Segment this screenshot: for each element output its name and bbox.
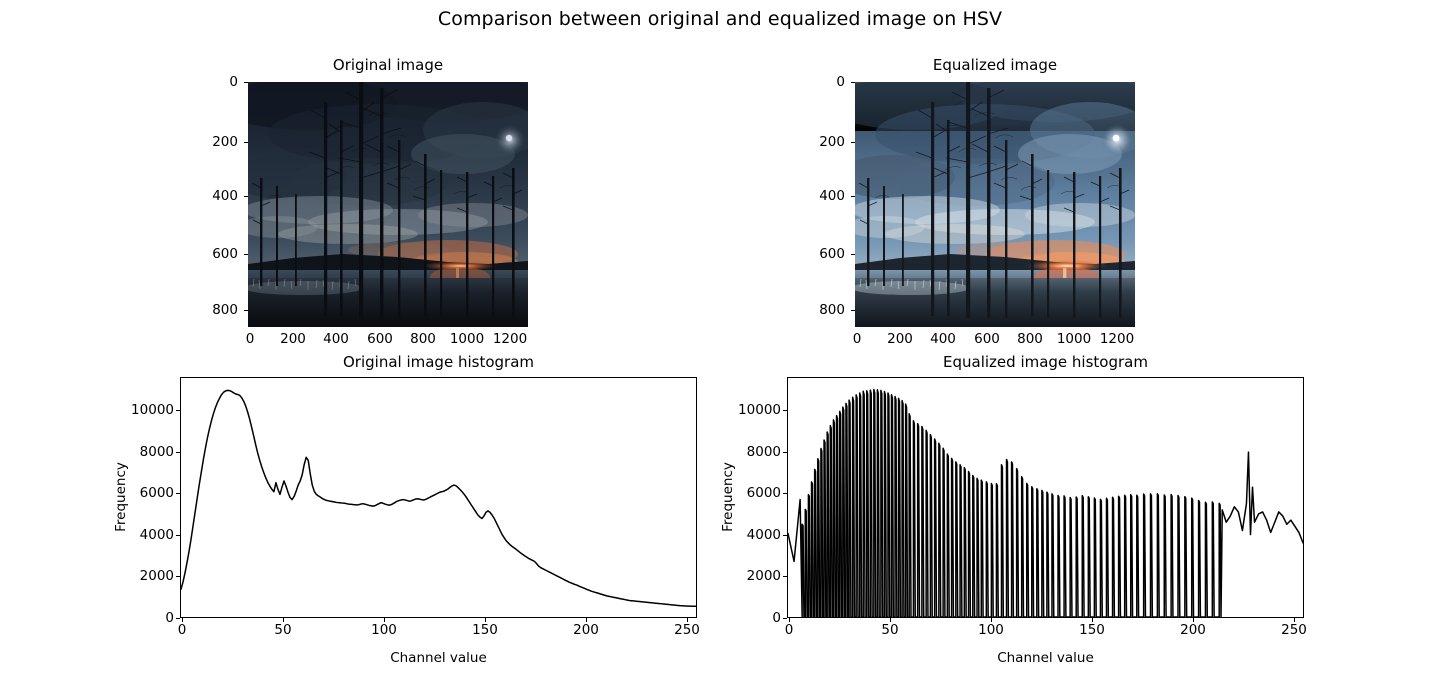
tick [783, 452, 787, 453]
tick [851, 82, 855, 83]
equalized-histogram-ytick-0: 0 [747, 610, 781, 626]
equalized-image-xtick-200: 200 [887, 331, 913, 347]
original-image-ytick-800: 800 [206, 302, 238, 318]
tick [789, 618, 790, 622]
original-image-title: Original image [248, 56, 528, 74]
original-histogram-title: Original image histogram [180, 353, 697, 371]
original-histogram-ytick-10000: 10000 [118, 402, 174, 418]
original-histogram-xtick-50: 50 [274, 622, 291, 638]
equalized-image-ytick-0: 0 [813, 74, 845, 90]
tick [485, 618, 486, 622]
equalized-histogram-ytick-2000: 2000 [733, 568, 781, 584]
tick [851, 196, 855, 197]
tick [384, 618, 385, 622]
equalized-image-ytick-800: 800 [813, 302, 845, 318]
original-histogram-xtick-250: 250 [674, 622, 700, 638]
equalized-image-ytick-600: 600 [813, 246, 845, 262]
original-histogram-xtick-150: 150 [472, 622, 498, 638]
original-image-xtick-1000: 1000 [450, 331, 484, 347]
original-histogram-xtick-100: 100 [371, 622, 397, 638]
equalized-histogram-title: Equalized image histogram [787, 353, 1304, 371]
original-image-xtick-200: 200 [280, 331, 306, 347]
tick [783, 493, 787, 494]
tick [783, 618, 787, 619]
original-image-xtick-800: 800 [410, 331, 436, 347]
equalized-image-axes [855, 82, 1135, 327]
tick [244, 82, 248, 83]
equalized-photo [855, 82, 1135, 327]
equalized-image-ytick-200: 200 [813, 134, 845, 150]
original-histogram-xtick-0: 0 [178, 622, 187, 638]
original-image-axes [248, 82, 528, 327]
tick [783, 535, 787, 536]
tick [851, 142, 855, 143]
original-histogram-ytick-4000: 4000 [126, 527, 174, 543]
original-histogram-ytick-6000: 6000 [126, 485, 174, 501]
original-histogram-ylabel: Frequency [113, 432, 129, 562]
original-histogram-plot [181, 378, 696, 617]
equalized-histogram-xtick-0: 0 [785, 622, 794, 638]
tick [586, 618, 587, 622]
equalized-image-xtick-400: 400 [930, 331, 956, 347]
tick [176, 452, 180, 453]
equalized-histogram-xtick-150: 150 [1079, 622, 1105, 638]
equalized-histogram-xtick-200: 200 [1180, 622, 1206, 638]
original-image-ytick-0: 0 [206, 74, 238, 90]
matplotlib-figure: Comparison between original and equalize… [0, 0, 1440, 700]
tick [176, 535, 180, 536]
tick [176, 576, 180, 577]
equalized-histogram-ylabel: Frequency [720, 432, 736, 562]
equalized-histogram-ytick-6000: 6000 [733, 485, 781, 501]
tick [182, 618, 183, 622]
original-histogram-xtick-200: 200 [573, 622, 599, 638]
tick [176, 410, 180, 411]
tick [851, 254, 855, 255]
tick [851, 310, 855, 311]
equalized-histogram-xtick-250: 250 [1281, 622, 1307, 638]
original-image-xtick-600: 600 [367, 331, 393, 347]
figure-suptitle: Comparison between original and equalize… [0, 8, 1440, 30]
original-image-ytick-600: 600 [206, 246, 238, 262]
original-histogram-ytick-2000: 2000 [126, 568, 174, 584]
tick [783, 410, 787, 411]
equalized-image-xtick-1000: 1000 [1057, 331, 1091, 347]
equalized-image-xtick-1200: 1200 [1100, 331, 1134, 347]
equalized-image-ytick-400: 400 [813, 188, 845, 204]
tick [244, 196, 248, 197]
equalized-histogram-xtick-100: 100 [978, 622, 1004, 638]
equalized-histogram-plot [788, 378, 1303, 617]
tick [1294, 618, 1295, 622]
equalized-histogram-ytick-4000: 4000 [733, 527, 781, 543]
original-image-xtick-1200: 1200 [493, 331, 527, 347]
equalized-histogram-ytick-8000: 8000 [733, 444, 781, 460]
equalized-image-xtick-800: 800 [1017, 331, 1043, 347]
original-image-ytick-200: 200 [206, 134, 238, 150]
original-image-xtick-400: 400 [323, 331, 349, 347]
tick [991, 618, 992, 622]
tick [687, 618, 688, 622]
equalized-image-xtick-0: 0 [853, 331, 862, 347]
original-histogram-xlabel: Channel value [180, 650, 697, 666]
original-histogram-ytick-8000: 8000 [126, 444, 174, 460]
tick [783, 576, 787, 577]
equalized-histogram-axes [787, 377, 1304, 618]
original-photo [248, 82, 528, 327]
original-image-xtick-0: 0 [246, 331, 255, 347]
original-histogram-axes [180, 377, 697, 618]
tick [244, 142, 248, 143]
tick [890, 618, 891, 622]
tick [244, 254, 248, 255]
tick [1092, 618, 1093, 622]
equalized-histogram-xtick-50: 50 [881, 622, 898, 638]
equalized-image-title: Equalized image [855, 56, 1135, 74]
original-histogram-ytick-0: 0 [140, 610, 174, 626]
original-image-ytick-400: 400 [206, 188, 238, 204]
tick [1193, 618, 1194, 622]
equalized-histogram-xlabel: Channel value [787, 650, 1304, 666]
tick [176, 618, 180, 619]
tick [244, 310, 248, 311]
tick [176, 493, 180, 494]
tick [283, 618, 284, 622]
equalized-image-xtick-600: 600 [974, 331, 1000, 347]
equalized-histogram-ytick-10000: 10000 [725, 402, 781, 418]
